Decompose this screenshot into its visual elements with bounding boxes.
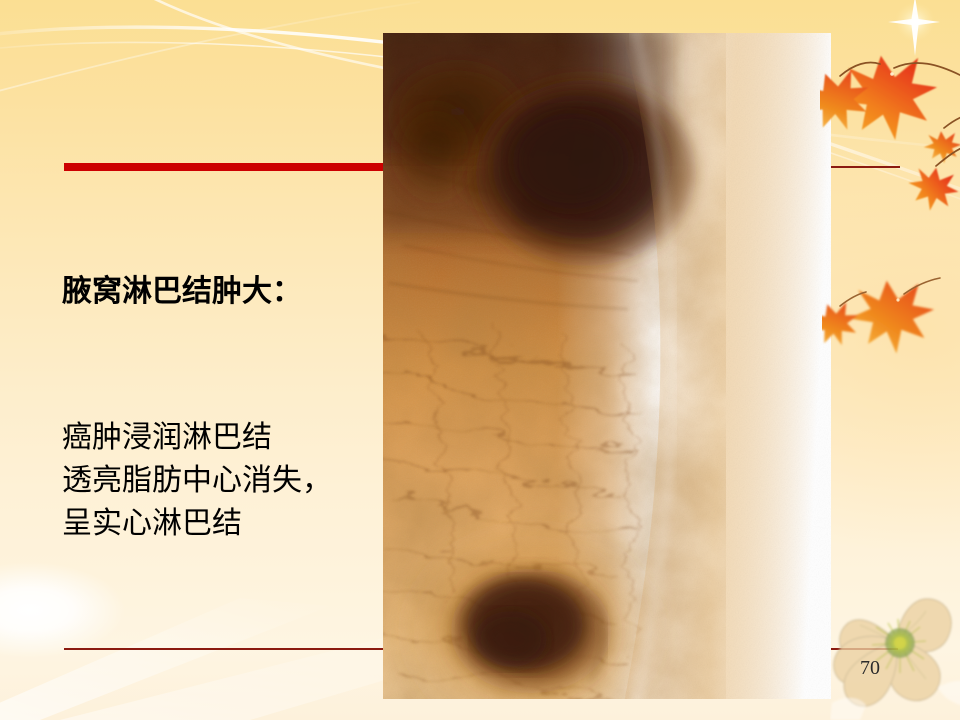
slide-body-text: 癌肿浸润淋巴结 透亮脂肪中心消失， 呈实心淋巴结 <box>62 416 332 545</box>
mammogram-image <box>383 33 831 699</box>
presentation-slide: 腋窝淋巴结肿大： 癌肿浸润淋巴结 透亮脂肪中心消失， 呈实心淋巴结 <box>0 0 960 720</box>
mammogram-detail-svg <box>383 33 831 699</box>
mammogram-canvas <box>383 33 831 699</box>
page-number: 70 <box>860 657 880 680</box>
body-line-2: 透亮脂肪中心消失， <box>62 459 332 502</box>
footer-accent-line-left <box>64 648 384 650</box>
title-accent-bar <box>64 163 385 171</box>
body-line-1: 癌肿浸润淋巴结 <box>62 416 332 459</box>
footer-accent-line-right <box>831 648 898 650</box>
title-accent-line-right <box>831 166 900 168</box>
body-line-3: 呈实心淋巴结 <box>62 502 332 545</box>
slide-heading: 腋窝淋巴结肿大： <box>62 277 302 307</box>
